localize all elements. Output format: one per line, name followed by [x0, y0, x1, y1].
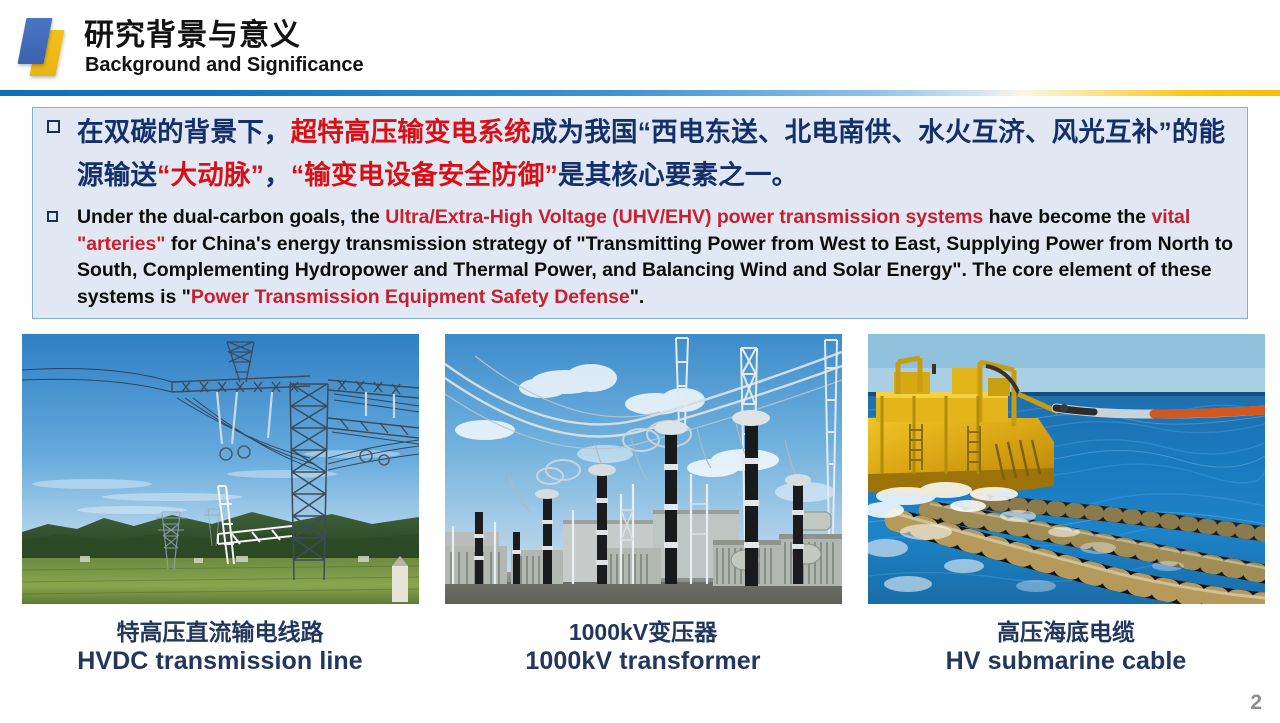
en-seg-2-highlight: Ultra/Extra-High Voltage (UHV/EHV) power… [385, 206, 983, 228]
en-seg-3: have become the [983, 206, 1151, 228]
caption-1-english: HVDC transmission line [20, 646, 420, 677]
hvdc-transmission-line-photo [22, 334, 419, 604]
zh-seg-5: ， [264, 160, 291, 190]
bullet-square-icon-1 [47, 120, 60, 133]
page-title-english: Background and Significance [85, 55, 363, 76]
paragraph-chinese: 在双碳的背景下，超特高压输变电系统成为我国“西电东送、北电南供、水火互济、风光互… [77, 111, 1237, 197]
caption-3-chinese: 高压海底电缆 [866, 618, 1266, 646]
zh-seg-1: 在双碳的背景下， [77, 117, 291, 147]
en-seg-7: ". [630, 286, 645, 308]
zh-seg-2-highlight: 超特高压输变电系统 [291, 117, 531, 147]
zh-seg-4-highlight: “大动脉” [157, 160, 264, 190]
en-seg-6-highlight: Power Transmission Equipment Safety Defe… [191, 286, 630, 308]
caption-2-chinese: 1000kV变压器 [443, 618, 843, 646]
paragraph-english: Under the dual-carbon goals, the Ultra/E… [77, 204, 1239, 310]
page-title-chinese: 研究背景与意义 [84, 20, 301, 52]
zh-seg-7: 是其核心要素之一。 [558, 160, 798, 190]
slide-header: 研究背景与意义 Background and Significance [0, 0, 1280, 88]
page-number: 2 [1250, 691, 1262, 715]
caption-2-english: 1000kV transformer [443, 646, 843, 677]
caption-1-chinese: 特高压直流输电线路 [20, 618, 420, 646]
content-panel: 在双碳的背景下，超特高压输变电系统成为我国“西电东送、北电南供、水火互济、风光互… [32, 107, 1248, 319]
hv-submarine-cable-photo [868, 334, 1265, 604]
caption-3-english: HV submarine cable [866, 646, 1266, 677]
zh-seg-6-highlight: “输变电设备安全防御” [291, 160, 558, 190]
bullet-square-icon-2 [47, 211, 58, 222]
caption-figure-1: 特高压直流输电线路 HVDC transmission line [20, 618, 420, 677]
figure-row [0, 334, 1280, 606]
en-seg-1: Under the dual-carbon goals, the [77, 206, 385, 228]
caption-figure-2: 1000kV变压器 1000kV transformer [443, 618, 843, 677]
header-divider [0, 90, 1280, 96]
1000kv-transformer-substation-photo [445, 334, 842, 604]
logo [20, 18, 72, 76]
caption-figure-3: 高压海底电缆 HV submarine cable [866, 618, 1266, 677]
